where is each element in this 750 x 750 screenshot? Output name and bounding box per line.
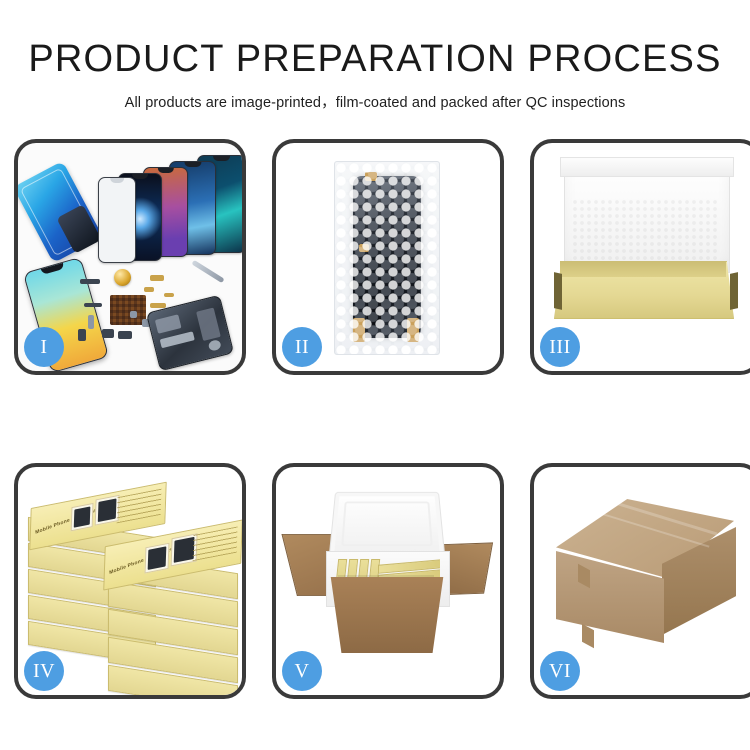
step-panel-sealed-shipping-carton[interactable]: VI [530,463,750,699]
process-row-2: Mobile Phone Spare Parts Mobile Phone Sp… [14,463,738,699]
flex-cable-icon [367,240,381,326]
bubble-bag-icon [334,161,440,355]
header: PRODUCT PREPARATION PROCESS All products… [0,0,750,112]
box-window-icon [145,543,170,574]
box-inner-edge-icon [560,261,726,277]
box-corner-icon [730,272,738,310]
step-numeral: I [40,336,47,359]
tape-tab-icon [365,172,377,181]
step-panel-foam-lined-carton[interactable]: V [272,463,504,699]
step-numeral: II [295,336,309,359]
process-row-1: I II [14,139,738,375]
step-panel-stacked-retail-boxes[interactable]: Mobile Phone Spare Parts Mobile Phone Sp… [14,463,246,699]
phone-glass-icon [98,177,136,263]
step-badge-5: V [282,651,322,691]
tape-tab-icon [407,318,419,342]
step-panel-bubble-wrapped-screen[interactable]: II [272,139,504,375]
product-preparation-infographic: PRODUCT PREPARATION PROCESS All products… [0,0,750,750]
page-title: PRODUCT PREPARATION PROCESS [0,40,750,78]
step-numeral: IV [33,660,55,683]
phone-fan-group [70,153,240,261]
tape-tab-icon [353,318,365,342]
step-numeral: V [295,660,310,683]
gold-component-icon [114,269,131,286]
carton-body-icon [320,577,454,653]
carton-tape-icon [582,624,594,648]
carton-edge-line [338,575,434,577]
step-badge-2: II [282,327,322,367]
step-badge-4: IV [24,651,64,691]
step-panel-inner-box-packing[interactable]: III [530,139,750,375]
chip-array-icon [110,295,146,325]
box-window-icon [71,503,94,531]
step-badge-1: I [24,327,64,367]
process-grid: I II [14,139,738,699]
step-panel-phone-parts[interactable]: I [14,139,246,375]
tweezers-icon [191,260,224,283]
foam-lid-icon [329,492,446,558]
wrapped-screen-icon [353,176,421,338]
step-badge-6: VI [540,651,580,691]
box-spec-lines-icon [193,526,238,561]
tape-tab-icon [359,244,369,252]
step-numeral: III [549,336,570,359]
page-subtitle: All products are image-printed，film-coat… [0,91,750,112]
step-numeral: VI [549,660,571,683]
box-spec-lines-icon [117,489,162,524]
step-badge-3: III [540,327,580,367]
box-lid-lip-icon [560,157,734,177]
foam-sheet-icon [572,199,720,269]
box-corner-icon [554,272,562,310]
